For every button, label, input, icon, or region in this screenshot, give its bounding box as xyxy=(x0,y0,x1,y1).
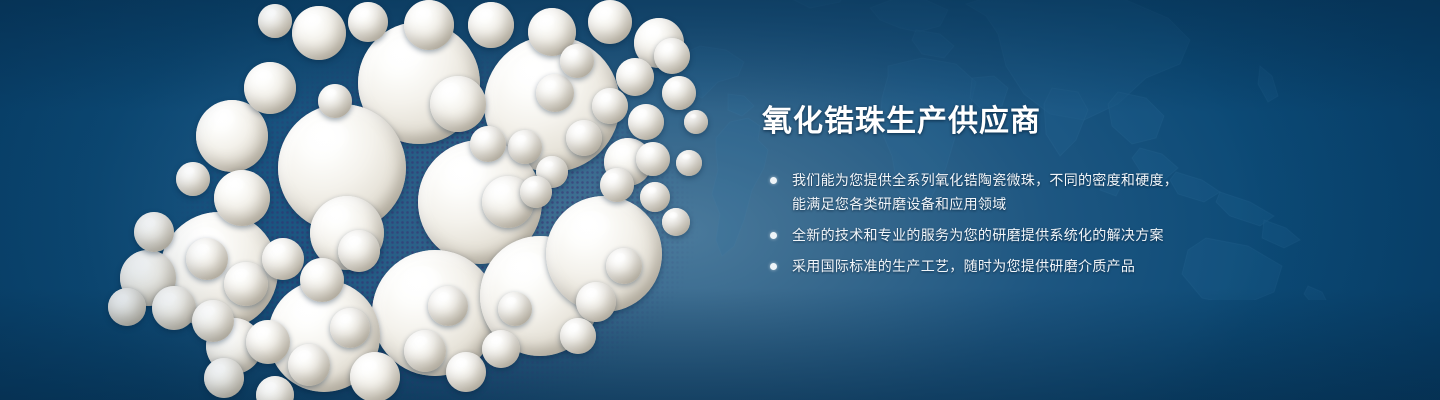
list-item: 我们能为您提供全系列氧化锆陶瓷微珠，不同的密度和硬度， 能满足您各类研磨设备和应… xyxy=(762,168,1282,216)
page-title: 氧化锆珠生产供应商 xyxy=(762,104,1282,140)
feature-list: 我们能为您提供全系列氧化锆陶瓷微珠，不同的密度和硬度， 能满足您各类研磨设备和应… xyxy=(762,168,1282,278)
bullet-dot-icon xyxy=(770,177,777,184)
banner-copy: 氧化锆珠生产供应商 我们能为您提供全系列氧化锆陶瓷微珠，不同的密度和硬度， 能满… xyxy=(762,104,1282,278)
list-item-line-1: 采用国际标准的生产工艺，随时为您提供研磨介质产品 xyxy=(792,258,1135,274)
list-item: 全新的技术和专业的服务为您的研磨提供系统化的解决方案 xyxy=(762,223,1282,247)
list-item-line-2: 能满足您各类研磨设备和应用领域 xyxy=(792,192,1282,216)
list-item-line-1: 我们能为您提供全系列氧化锆陶瓷微珠，不同的密度和硬度， xyxy=(792,172,1178,188)
bullet-dot-icon xyxy=(770,263,777,270)
bullet-dot-icon xyxy=(770,232,777,239)
hero-banner: 氧化锆珠生产供应商 我们能为您提供全系列氧化锆陶瓷微珠，不同的密度和硬度， 能满… xyxy=(0,0,1440,400)
list-item-line-1: 全新的技术和专业的服务为您的研磨提供系统化的解决方案 xyxy=(792,227,1164,243)
list-item: 采用国际标准的生产工艺，随时为您提供研磨介质产品 xyxy=(762,254,1282,278)
